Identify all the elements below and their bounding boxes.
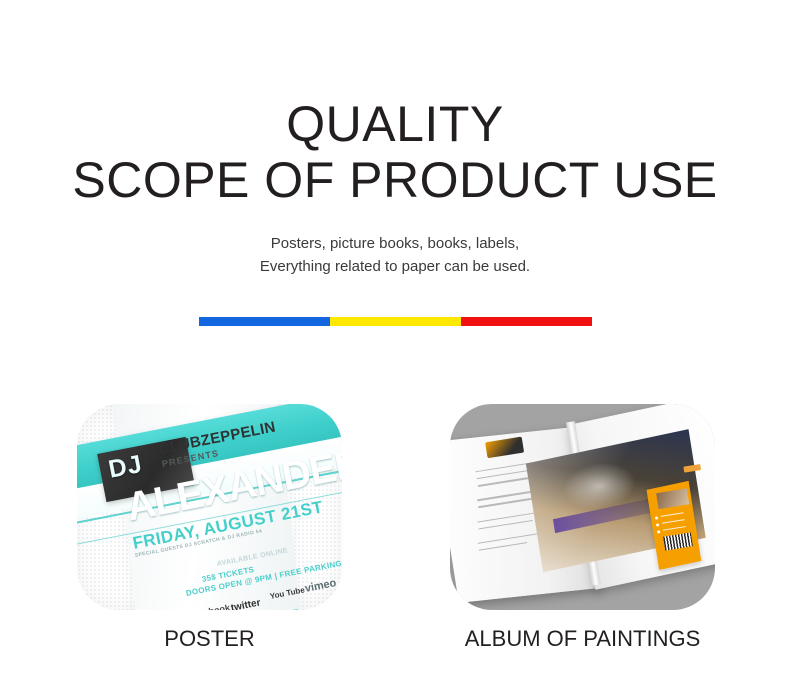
divider-segment-blue [199,317,330,326]
divider-segment-red [461,317,592,326]
product-gallery: DJ CLUBZEPPELIN PRESENTS ALEXANDER FRIDA… [0,404,790,664]
product-card-album[interactable]: ALBUM OF PAINTINGS [450,404,715,610]
product-caption-poster: POSTER [77,626,342,652]
poster-dj-text: DJ [106,449,145,484]
product-caption-album: ALBUM OF PAINTINGS [450,626,715,652]
page-title-line-2: SCOPE OF PRODUCT USE [0,152,790,208]
page-title: QUALITY SCOPE OF PRODUCT USE [0,96,790,208]
page-subtitle-line-1: Posters, picture books, books, labels, [0,232,790,255]
album-thumbnail[interactable] [450,404,715,610]
poster-thumbnail[interactable]: DJ CLUBZEPPELIN PRESENTS ALEXANDER FRIDA… [77,404,342,610]
album-magazine [450,404,715,610]
color-divider [199,317,592,326]
page-title-line-1: QUALITY [0,96,790,152]
product-card-poster[interactable]: DJ CLUBZEPPELIN PRESENTS ALEXANDER FRIDA… [77,404,342,610]
divider-segment-yellow [330,317,461,326]
page-subtitle: Posters, picture books, books, labels, E… [0,232,790,278]
page-subtitle-line-2: Everything related to paper can be used. [0,255,790,278]
